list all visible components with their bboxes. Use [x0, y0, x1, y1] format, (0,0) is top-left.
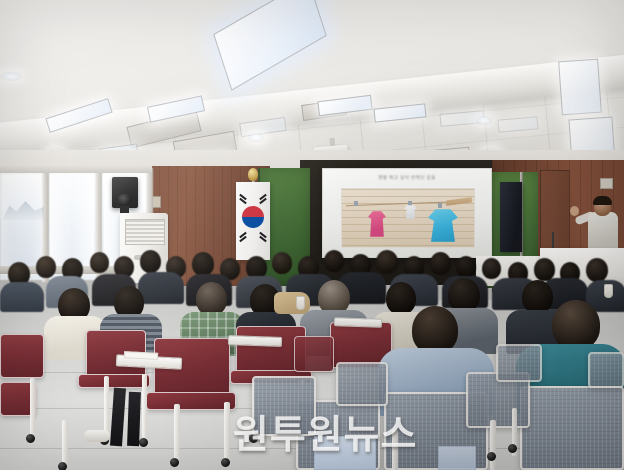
attendee-shoulders [0, 282, 44, 312]
attendee-head [376, 250, 398, 274]
attendee-head [272, 252, 292, 274]
wall-speaker [112, 177, 138, 208]
paper-sheet[interactable] [438, 446, 476, 470]
attendee-head [586, 258, 608, 282]
chair-leg [490, 420, 496, 470]
paper-cup[interactable] [604, 284, 613, 298]
window-pane [2, 174, 42, 276]
mesh-chair-back[interactable] [496, 344, 542, 382]
ceiling-downlight [0, 72, 22, 81]
paper-sheet[interactable] [314, 436, 376, 470]
attendee-head [552, 300, 600, 350]
mesh-chair-back[interactable] [520, 386, 624, 470]
chair-leg [104, 376, 109, 438]
writing-tablet[interactable] [228, 335, 282, 347]
chair-caster [26, 434, 35, 443]
chair-caster [58, 462, 67, 470]
attendee-head [456, 256, 476, 278]
attendee-head [196, 282, 227, 316]
window-header [0, 164, 152, 173]
lecture-chair-back[interactable] [294, 336, 334, 372]
slide-clothes-pin [438, 203, 442, 208]
ceiling-downlight [248, 133, 264, 142]
fluorescent-light-fixture [558, 59, 602, 116]
attendee-head [482, 258, 501, 279]
wall-plate-icon [600, 178, 613, 189]
attendee-head [192, 252, 214, 276]
slide-photo [341, 188, 475, 248]
attendee-head [430, 252, 451, 275]
mesh-chair-back[interactable] [252, 376, 316, 436]
slide-title: 햇볕 쬐고 싶어 반짝인 옷들 [323, 175, 491, 181]
projection-screen: 햇볕 쬐고 싶어 반짝인 옷들 [322, 168, 492, 258]
paper-cup[interactable] [296, 296, 305, 310]
lecture-chair-seat[interactable] [146, 392, 236, 410]
lecture-chair-back[interactable] [0, 334, 44, 378]
lecture-chair-seat[interactable] [78, 374, 150, 388]
speaker-bracket [120, 206, 129, 213]
window-curtain [50, 174, 94, 270]
attendee-head [324, 250, 344, 272]
presenter-hair [593, 196, 612, 205]
attendee-head [522, 280, 553, 314]
mesh-chair-back[interactable] [336, 362, 388, 406]
chair-caster [221, 458, 230, 467]
taeguk-symbol [242, 206, 264, 228]
secondary-flag [500, 182, 522, 252]
chair-leg [142, 374, 147, 438]
flagpole-finial [248, 168, 258, 181]
attendee-head [36, 256, 56, 278]
chair-caster [508, 444, 517, 453]
chair-leg [62, 420, 68, 466]
ceiling-downlight [476, 116, 492, 125]
lecture-hall-photograph: 햇볕 쬐고 싶어 반짝인 옷들 [0, 0, 624, 470]
slide-clothes-pin [354, 201, 358, 206]
attendee-head [386, 282, 416, 315]
south-korea-flag [236, 182, 270, 260]
attendee-head [412, 306, 458, 354]
chair-caster [170, 458, 179, 467]
chair-caster [487, 452, 496, 461]
attendee-head [90, 252, 109, 273]
chair-caster [139, 438, 148, 447]
chair-leg [174, 404, 180, 460]
chair-leg [224, 402, 230, 460]
presenter-hand [570, 206, 579, 216]
wall-plate-icon [152, 196, 161, 208]
writing-tablet[interactable] [334, 317, 382, 328]
chair-leg [392, 430, 398, 470]
attendee-shoulders [138, 272, 184, 304]
mesh-chair-back[interactable] [588, 352, 624, 388]
chair-leg [30, 378, 35, 436]
attendee-head [140, 250, 161, 273]
